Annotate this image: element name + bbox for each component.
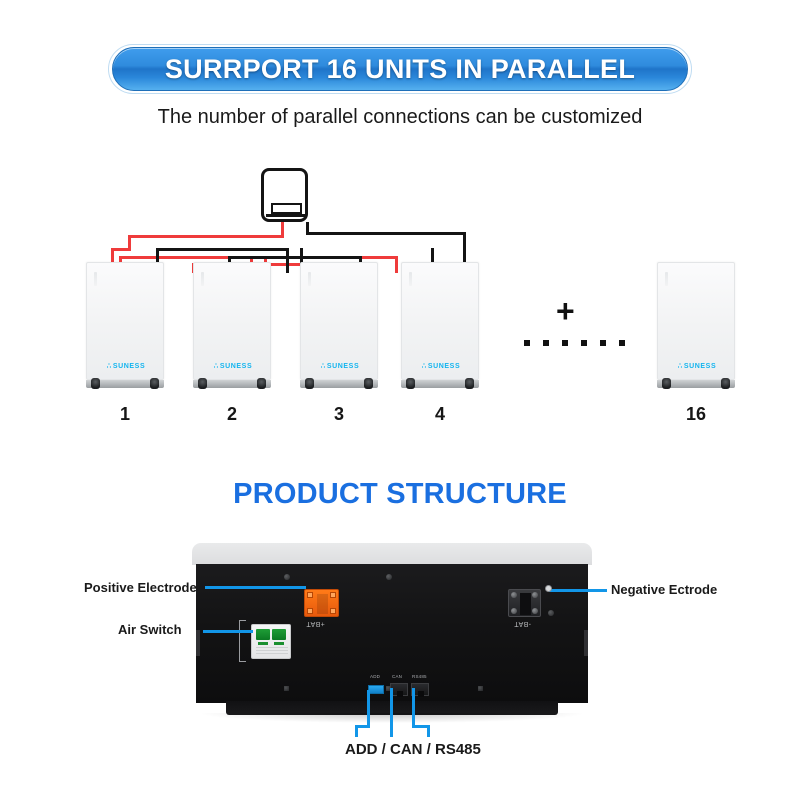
terminal-bolt-icon [330,592,336,598]
battery-unit-body: ∴SUNESS [401,262,479,380]
battery-unit[interactable]: ∴SUNESS 3 [300,262,378,425]
positive-terminal-label: +BAT [306,620,325,627]
battery-unit[interactable]: ∴SUNESS 1 [86,262,164,425]
breaker-toggle-icon [258,642,268,645]
breaker-switch-icon [272,629,286,640]
battery-base [86,380,164,388]
wire-blk-seg-2 [228,256,362,259]
battery-unit[interactable]: ∴SUNESS 4 [401,262,479,425]
wire-negative-trunk-drop [306,222,309,232]
banner-title: SURRPORT 16 UNITS IN PARALLEL [165,54,635,85]
terminal-bolt-icon [532,592,538,598]
callout-positive-electrode: Positive Electrode [84,580,197,595]
battery-unit-number: 1 [86,404,164,425]
comm-port-group: ADD CAN RS485 [368,683,432,697]
battery-vent [665,272,668,286]
leader-line-add-drop [355,725,358,737]
callout-negative-electrode: Negative Ectrode [611,582,717,597]
inverter-icon [261,168,308,222]
callout-air-switch: Air Switch [118,622,182,637]
breaker-toggle-icon [274,642,284,645]
section-title: PRODUCT STRUCTURE [0,478,800,511]
terminal-bolt-icon [307,608,313,614]
positive-terminal[interactable] [304,589,339,617]
battery-foot-icon [662,378,671,389]
terminal-bolt-icon [511,608,517,614]
brand-name: SUNESS [113,363,145,370]
dot-icon [581,340,587,346]
terminal-bolt-icon [532,608,538,614]
port-caption-rs485: RS485 [412,674,427,679]
terminal-bolt-icon [511,592,517,598]
battery-foot-icon [198,378,207,389]
address-dip-switch[interactable] [368,685,384,694]
battery-unit-body: ∴SUNESS [300,262,378,380]
brand-logo: ∴SUNESS [402,362,480,370]
battery-foot-icon [257,378,266,389]
brand-logo: ∴SUNESS [301,362,379,370]
ellipsis-dots [524,340,625,346]
brand-logo: ∴SUNESS [87,362,165,370]
battery-foot-icon [91,378,100,389]
battery-foot-icon [406,378,415,389]
battery-unit-number: 3 [300,404,378,425]
banner-pill: SURRPORT 16 UNITS IN PARALLEL [112,47,688,91]
brand-mark-icon: ∴ [107,363,112,370]
battery-vent [94,272,97,286]
panel-screw-icon [284,686,289,691]
wire-positive-to-unit1 [111,248,131,251]
leader-line-positive [205,586,306,589]
page-root: SURRPORT 16 UNITS IN PARALLEL The number… [0,0,800,800]
panel-screw-icon [478,686,483,691]
terminal-bar [520,593,531,615]
callout-comm-ports: ADD / CAN / RS485 [345,741,481,758]
leader-line-can [390,688,393,737]
air-switch-bracket [239,620,246,662]
marking-line [256,650,288,651]
battery-foot-icon [305,378,314,389]
terminal-bolt-icon [307,592,313,598]
wire-blk-seg-1 [156,248,289,251]
dot-icon [562,340,568,346]
dot-icon [619,340,625,346]
battery-unit-number: 16 [657,404,735,425]
battery-foot-icon [721,378,730,389]
air-switch-markings [256,647,288,655]
brand-logo: ∴SUNESS [194,362,272,370]
brand-name: SUNESS [327,363,359,370]
battery-base [193,380,271,388]
wire-positive-main-bus [128,235,284,238]
brand-logo: ∴SUNESS [658,362,736,370]
dot-icon [600,340,606,346]
plus-icon: + [556,295,575,327]
battery-unit[interactable]: ∴SUNESS 2 [193,262,271,425]
dot-icon [543,340,549,346]
dot-icon [524,340,530,346]
panel-screw-icon [284,574,290,580]
rj45-notch-icon [397,691,403,697]
battery-foot-icon [150,378,159,389]
battery-base [657,380,735,388]
brand-name: SUNESS [684,363,716,370]
panel-screw-icon [548,610,554,616]
product-front-panel: +BAT -BAT [196,564,588,703]
battery-foot-icon [465,378,474,389]
battery-unit-body: ∴SUNESS [86,262,164,380]
inverter-base [266,214,307,217]
negative-terminal[interactable] [508,589,541,617]
brand-mark-icon: ∴ [678,363,683,370]
air-switch[interactable] [251,624,291,659]
breaker-switch-icon [256,629,270,640]
battery-base [401,380,479,388]
leader-line-add-v [367,690,370,728]
battery-foot-icon [364,378,373,389]
leader-dot-icon [545,585,552,592]
brand-name: SUNESS [220,363,252,370]
parallel-diagram: ∴SUNESS 1 ∴SUNESS 2 [0,160,800,440]
wire-negative-main-bus [306,232,466,235]
panel-screw-icon [386,574,392,580]
leader-line-negative [549,589,607,592]
marking-line [256,647,288,648]
marking-line [256,653,288,654]
leader-line-air-switch [203,630,253,633]
wire-red-seg-3-end [395,256,398,273]
brand-mark-icon: ∴ [422,363,427,370]
battery-vent [409,272,412,286]
leader-line-rs485-drop [427,725,430,737]
side-vent-right [584,630,588,656]
headline-banner: SURRPORT 16 UNITS IN PARALLEL [108,44,692,94]
brand-mark-icon: ∴ [214,363,219,370]
port-caption-can: CAN [392,674,402,679]
brand-name: SUNESS [428,363,460,370]
subtitle-text: The number of parallel connections can b… [0,106,800,129]
terminal-bolt-icon [330,608,336,614]
battery-vent [201,272,204,286]
negative-terminal-label: -BAT [514,620,531,627]
product-top-cap [192,543,592,565]
battery-unit-number: 2 [193,404,271,425]
brand-mark-icon: ∴ [321,363,326,370]
battery-unit-body: ∴SUNESS [193,262,271,380]
battery-unit-number: 4 [401,404,479,425]
battery-unit-body: ∴SUNESS [657,262,735,380]
battery-vent [308,272,311,286]
terminal-bar [317,594,328,614]
rj45-notch-icon [418,691,424,697]
leader-line-rs485-v [412,688,415,725]
wire-blk-seg-1-end [286,248,289,273]
port-caption-add: ADD [370,674,380,679]
side-vent-left [196,630,200,656]
inverter-display [271,203,302,214]
battery-unit-last[interactable]: ∴SUNESS 16 [657,262,735,425]
battery-base [300,380,378,388]
